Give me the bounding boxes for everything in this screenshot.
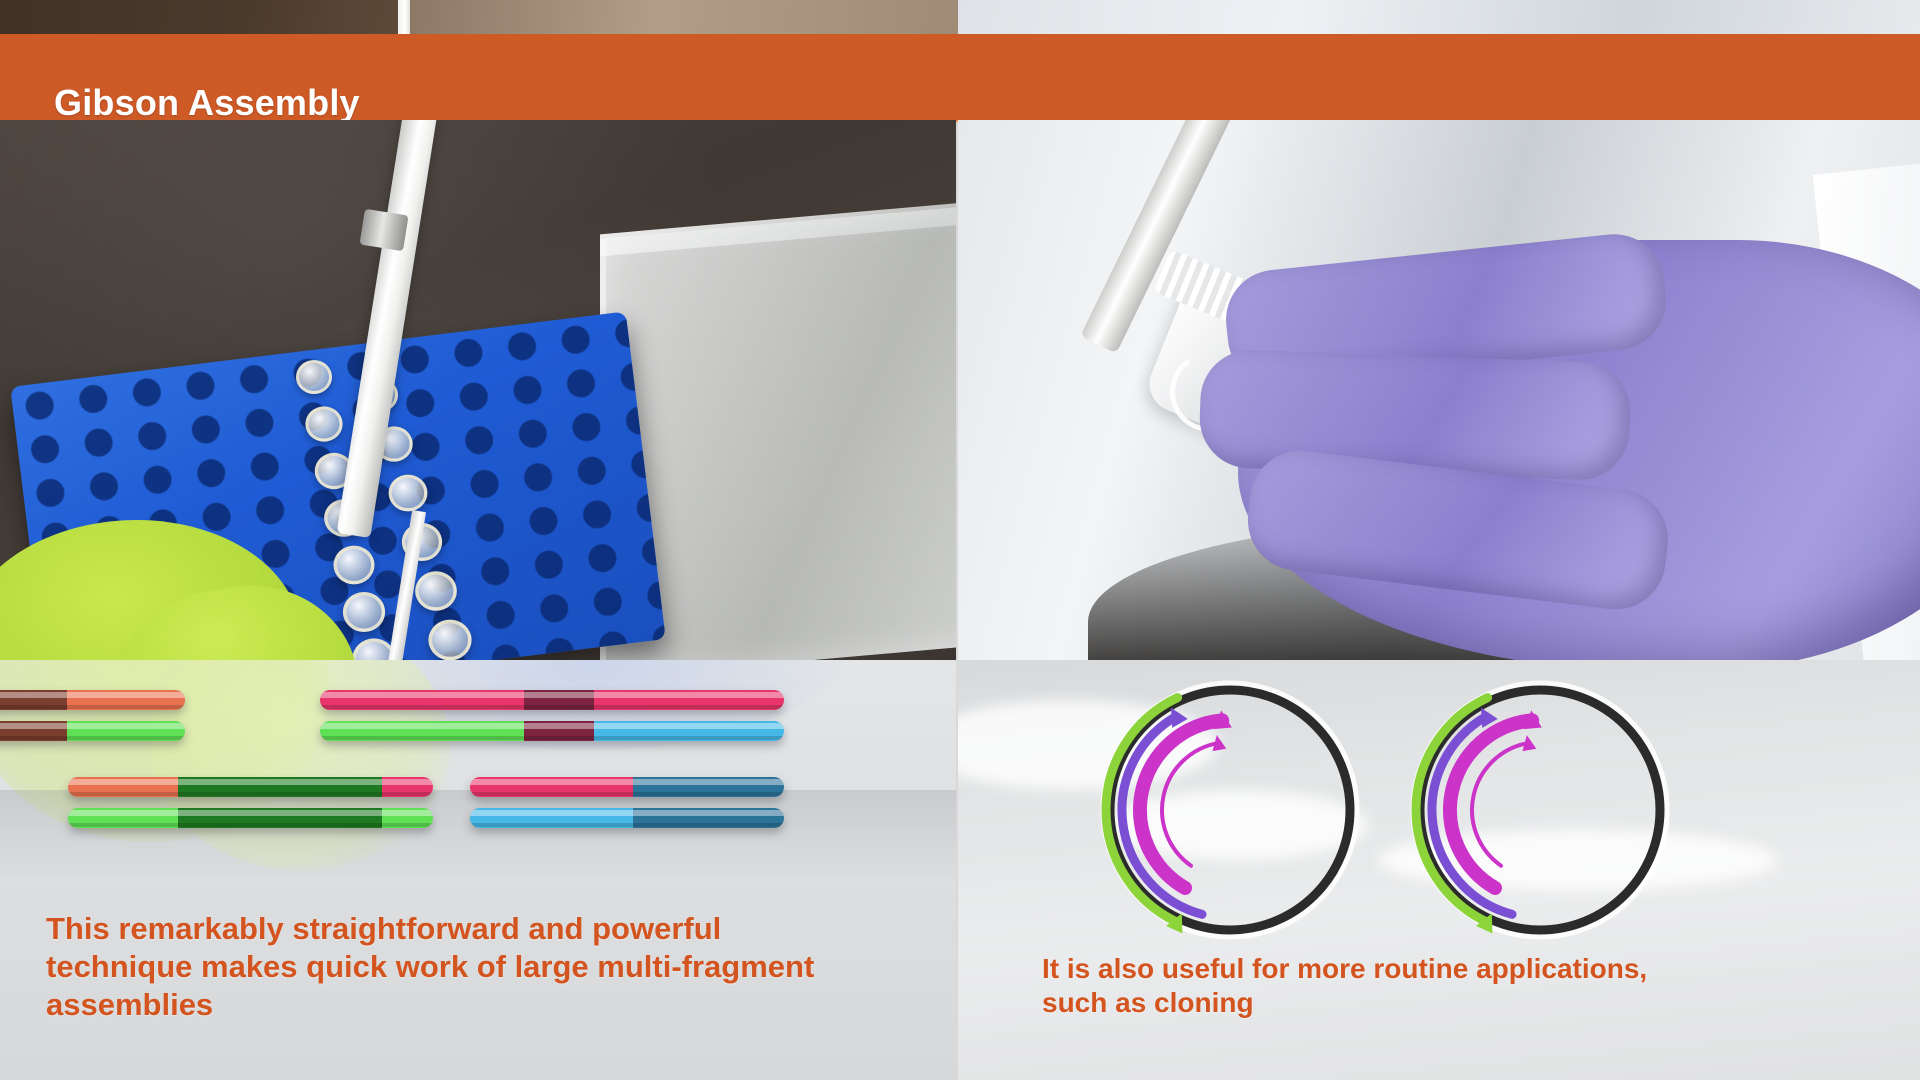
magenta-direction-arrow (1472, 743, 1528, 866)
pcr-tube (333, 546, 374, 585)
dna-fragment-bar (470, 777, 784, 797)
dna-segment (320, 721, 524, 741)
page-title: Gibson Assembly (54, 82, 360, 124)
dna-segment (320, 690, 524, 710)
top-photo-sliver (0, 0, 1920, 34)
pcr-tube (296, 360, 332, 394)
pcr-tube (428, 620, 471, 660)
pcr-tube (343, 592, 385, 632)
dna-segment (470, 777, 633, 797)
pcr-tube (415, 571, 457, 610)
dna-segment (382, 777, 433, 797)
dna-fragment-bar (320, 721, 784, 741)
dna-fragment-bar (470, 808, 784, 828)
dna-fragment-bar (68, 808, 433, 828)
gloved-hand-photo-panel (958, 120, 1920, 660)
dna-segment (0, 690, 67, 710)
dna-segment (524, 721, 594, 741)
dna-segment (178, 777, 382, 797)
dna-fragment-bar (320, 690, 784, 710)
glove-finger-middle (1198, 349, 1632, 482)
dna-fragment-bar (0, 690, 185, 710)
dna-segment (68, 777, 178, 797)
slide-root: Gibson Assembly (0, 0, 1920, 1080)
caption-right: It is also useful for more routine appli… (1042, 952, 1662, 1020)
dna-segment (0, 721, 67, 741)
caption-left: This remarkably straightforward and powe… (46, 910, 846, 1023)
bench-sliver (0, 0, 400, 34)
dna-segment (178, 808, 382, 828)
dna-segment (524, 690, 594, 710)
box-sliver (410, 0, 958, 34)
pipetting-photo-panel (0, 120, 956, 660)
dna-segment (68, 808, 178, 828)
dna-segment (470, 808, 633, 828)
lab-background-sliver (958, 0, 1920, 34)
dna-segment (594, 690, 784, 710)
dna-fragment-bar (0, 721, 185, 741)
dna-segment (633, 808, 784, 828)
pcr-tube (389, 475, 428, 512)
dna-segment (382, 808, 433, 828)
magenta-direction-arrow (1162, 743, 1218, 866)
pipette-collar (359, 209, 408, 251)
dna-segment (67, 690, 185, 710)
dna-segment (633, 777, 784, 797)
dna-segment (594, 721, 784, 741)
title-banner: Gibson Assembly (0, 34, 1920, 120)
pcr-tube (305, 406, 342, 441)
panel-shadow (0, 790, 956, 880)
dna-fragment-bar (68, 777, 433, 797)
dna-segment (67, 721, 185, 741)
